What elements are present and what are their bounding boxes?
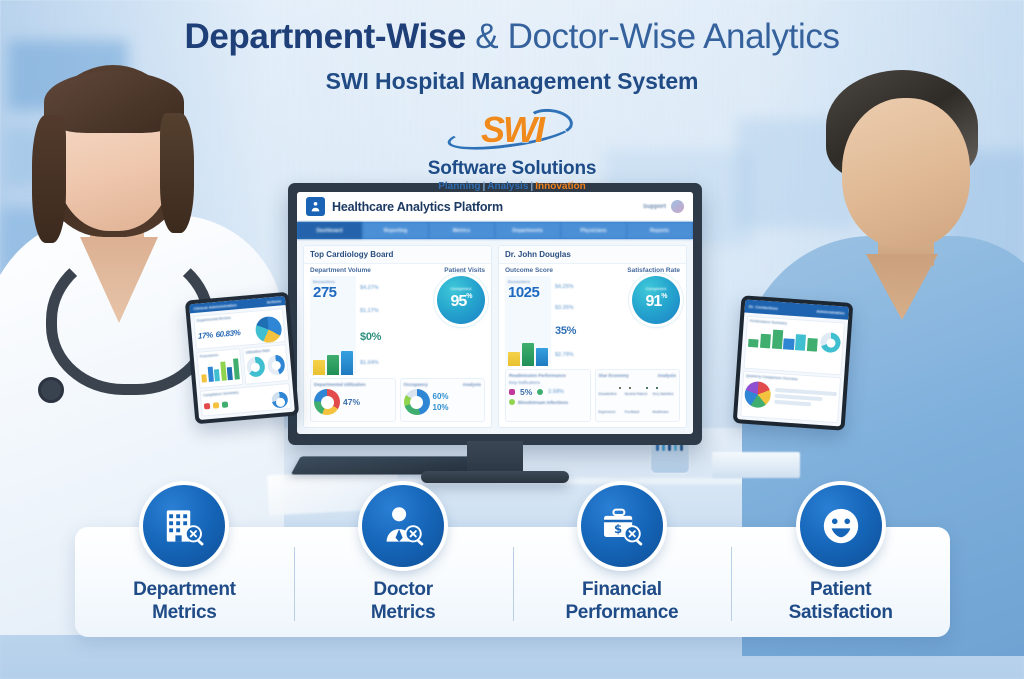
- gauge-number: 95: [450, 293, 466, 310]
- card-caption: Star Economy: [599, 373, 629, 378]
- department-metric-labels: Department Volume Patient Visits: [304, 264, 491, 275]
- satisfaction-smileys: Dissatisfied Experience Neutral Patient …: [599, 380, 677, 418]
- pie-chart: [744, 381, 772, 409]
- feature-label-doctor-metrics: Doctor Metrics: [371, 578, 435, 624]
- gauge-satisfaction-rate: Completed 91%: [632, 276, 680, 324]
- bar: [807, 338, 818, 352]
- bar: [508, 352, 520, 366]
- tagline-planning: Planning: [438, 181, 480, 192]
- feature-label-patient-satisfaction: Patient Satisfaction: [789, 578, 893, 624]
- legend-dot: [213, 402, 220, 409]
- page-title: Department-Wise & Doctor-Wise Analytics: [0, 18, 1024, 57]
- monitor-stand-neck: [467, 441, 523, 475]
- donut-chart: [820, 332, 841, 353]
- bar: [220, 361, 227, 381]
- avatar[interactable]: [671, 200, 684, 213]
- tablet-left-screen: Clinical Administration Actions Departme…: [189, 296, 295, 420]
- tablet-left-card-summary: Departmental Review 17% 60.83%: [193, 308, 286, 350]
- tablet-badge: Administration: [816, 309, 845, 316]
- kpi-outcome-score: Encounters 1025: [505, 276, 551, 366]
- doctor-metrics-row: Encounters 1025 $4.25% $3.35% 35%: [499, 275, 686, 369]
- kpi-caption: Encounters: [508, 279, 548, 284]
- card-caption: Occupancy: [404, 382, 428, 387]
- metric-label-department-volume: Department Volume: [310, 267, 371, 274]
- desk-books: [712, 452, 800, 478]
- dashboard-header-right: Support: [643, 200, 684, 213]
- legend-dot: [509, 389, 515, 395]
- logo-tagline: Planning|Analysis|Innovation: [0, 181, 1024, 192]
- legend-dot: [204, 403, 211, 410]
- bar: [771, 329, 783, 349]
- doctor-metric-labels: Outcome Score Satisfaction Rate: [499, 264, 686, 275]
- doctor-panel: Dr. John Douglas Outcome Score Satisfact…: [498, 245, 687, 428]
- donut-chart: [271, 391, 288, 408]
- pct-small-2: $3.35%: [555, 305, 628, 311]
- dashboard-body: Top Cardiology Board Department Volume P…: [297, 239, 693, 434]
- label-line-1: Doctor: [373, 579, 432, 600]
- patient-badge-icon: [306, 197, 325, 216]
- card-badge: Analysis: [657, 373, 676, 378]
- metric-label-patient-visits: Patient Visits: [444, 267, 485, 274]
- monitor-screen: Healthcare Analytics Platform Support Da…: [297, 192, 693, 434]
- label-line-1: Department: [133, 579, 236, 600]
- bar: [783, 338, 794, 350]
- tagline-analysis: Analysis: [487, 181, 528, 192]
- pct-primary: $0%: [360, 331, 433, 343]
- svg-text:$: $: [614, 522, 622, 536]
- kpi-bar-chart: [313, 349, 353, 375]
- pie-chart: [255, 315, 283, 343]
- bar: [760, 334, 771, 349]
- logo-wordmark: SWI: [441, 110, 583, 150]
- bar: [795, 334, 806, 351]
- card-note: Bloodstream Infections: [518, 400, 568, 405]
- pct-small-3: $1.04%: [360, 360, 433, 366]
- smiley-label: Very Satisfied Healthcare: [652, 392, 673, 414]
- card-percent-2: 10%: [433, 403, 449, 412]
- briefcase-dollar-search-icon: $: [581, 485, 663, 567]
- legend-dot: [509, 399, 515, 405]
- bar: [327, 355, 339, 375]
- gauge-patient-visits: Completed 95%: [437, 276, 485, 324]
- department-metrics-row: Encounters 275 $4.27% $1.17% $0%: [304, 275, 491, 378]
- department-lower-cards: Departmental Utilization 47% Occupancy A…: [304, 378, 491, 427]
- bar: [341, 351, 353, 375]
- card-caption: Readmission Performance: [509, 373, 566, 378]
- tablet-right-body: Performance Summary Q: [737, 312, 848, 426]
- label-line-2: Performance: [565, 602, 678, 623]
- label-line-1: Financial: [582, 579, 662, 600]
- tablet-left-card-compliance: Compliance Summary: [200, 383, 292, 417]
- percent-2: 60.83%: [215, 328, 240, 339]
- tagline-separator: |: [530, 181, 533, 192]
- label-line-2: Satisfaction: [789, 602, 893, 623]
- legend-dot: [537, 389, 543, 395]
- feature-patient-satisfaction[interactable]: Patient Satisfaction: [731, 527, 950, 637]
- kpi-caption: Encounters: [313, 279, 353, 284]
- smiley-face-icon: [800, 485, 882, 567]
- doctor-panel-title: Dr. John Douglas: [499, 246, 686, 264]
- bar: [207, 367, 213, 383]
- hospital-building-search-icon: [143, 485, 225, 567]
- card-percent-2: 2.58%: [548, 389, 564, 395]
- pct-small-2: $1.17%: [360, 308, 433, 314]
- card-departmental-utilization: Departmental Utilization 47%: [310, 378, 396, 422]
- card-caption: Utilization Rate: [245, 348, 283, 355]
- tablet-right-screen: Dr. Contactless Administration Performan…: [737, 300, 849, 427]
- dashboard-user-label: Support: [643, 204, 666, 210]
- gauge-value: 91%: [645, 293, 666, 311]
- kpi-value: 275: [313, 285, 353, 300]
- page-subtitle: SWI Hospital Management System: [0, 68, 1024, 95]
- department-panel: Top Cardiology Board Department Volume P…: [303, 245, 492, 428]
- stethoscope-bell: [38, 377, 64, 403]
- bar: [313, 360, 325, 375]
- kpi-department-volume: Encounters 275: [310, 276, 356, 375]
- smiley-label: Dissatisfied Experience: [599, 392, 617, 414]
- tablet-title: Dr. Contactless: [749, 304, 778, 311]
- bar-chart: [200, 358, 240, 383]
- doctor-percent-column: $4.25% $3.35% 35% $2.79%: [555, 276, 628, 366]
- tab-reporting[interactable]: Reporting: [363, 222, 429, 239]
- bar: [536, 348, 548, 366]
- feature-department-metrics[interactable]: Department Metrics: [75, 527, 294, 637]
- card-star-economy: Star Economy Analysis Dissatisfied Exper…: [595, 369, 681, 422]
- doctor-lower-cards: Readmission Performance Key Indicators 5…: [499, 369, 686, 427]
- pct-primary: 35%: [555, 325, 628, 337]
- tagline-separator: |: [482, 181, 485, 192]
- tab-departments[interactable]: Departments: [495, 222, 561, 239]
- logo-company-name: Software Solutions: [0, 158, 1024, 180]
- donut-chart: [314, 389, 340, 415]
- gauge-unit: %: [466, 293, 471, 300]
- feature-financial-performance[interactable]: $ Financial Performance: [513, 527, 732, 637]
- bar: [233, 359, 240, 380]
- gauge-number: 91: [645, 293, 661, 310]
- pct-small-1: $4.27%: [360, 285, 433, 291]
- poster-canvas: Department-Wise & Doctor-Wise Analytics …: [0, 0, 1024, 679]
- card-badge: Analysis: [462, 382, 481, 387]
- department-percent-column: $4.27% $1.17% $0% $1.04%: [360, 276, 433, 375]
- bar: [522, 343, 534, 366]
- label-line-2: Metrics: [371, 602, 435, 623]
- label-line-2: Metrics: [152, 602, 216, 623]
- card-percent-1: 60%: [433, 392, 449, 401]
- tab-reports[interactable]: Reports: [627, 222, 693, 239]
- bar: [214, 369, 220, 381]
- feature-label-financial-performance: Financial Performance: [565, 578, 678, 624]
- title-part-1: Department-Wise: [184, 17, 466, 56]
- poster-heading: Department-Wise & Doctor-Wise Analytics …: [0, 18, 1024, 95]
- legend-dot: [222, 402, 229, 409]
- department-panel-title: Top Cardiology Board: [304, 246, 491, 264]
- tablet-left-card-utilization: Utilization Rate: [242, 344, 289, 385]
- card-caption: Departmental Utilization: [314, 382, 366, 387]
- swi-logo: SWI Software Solutions Planning|Analysis…: [0, 112, 1024, 192]
- tab-metrics[interactable]: Metrics: [429, 222, 495, 239]
- tagline-innovation: Innovation: [535, 181, 586, 192]
- pct-small-3: $2.79%: [555, 352, 628, 358]
- tab-physicians[interactable]: Physicians: [561, 222, 627, 239]
- tablet-right-card-comparison: Quarterly Comparison Overview: [740, 371, 841, 423]
- desktop-monitor: Healthcare Analytics Platform Support Da…: [288, 183, 702, 445]
- bar: [748, 339, 759, 348]
- percent-1: 17%: [198, 330, 214, 340]
- tablet-left-body: Departmental Review 17% 60.83% Procedure…: [190, 305, 295, 420]
- dashboard-header: Healthcare Analytics Platform Support: [297, 192, 693, 222]
- bar: [201, 374, 207, 383]
- dashboard-nav: Dashboard Reporting Metrics Departments …: [297, 222, 693, 239]
- feature-bar: Department Metrics Doctor Metrics: [75, 527, 950, 637]
- donut-chart: [404, 389, 430, 415]
- gauge-caption: Completed: [437, 286, 485, 291]
- gauge-unit: %: [661, 293, 666, 300]
- card-percent: 47%: [343, 397, 360, 407]
- smiley-label: Neutral Patient Feedback: [625, 392, 648, 414]
- gauge-value: 95%: [450, 293, 471, 311]
- donut-chart: [266, 355, 285, 376]
- pct-small-1: $4.25%: [555, 284, 628, 290]
- tablet-left-card-procedures: Procedures: [196, 348, 243, 389]
- card-subcaption: Key Indicators: [509, 380, 540, 385]
- swi-logo-mark: SWI: [441, 112, 583, 152]
- tablet-right: Dr. Contactless Administration Performan…: [733, 295, 854, 431]
- bar: [227, 367, 233, 381]
- tab-dashboard[interactable]: Dashboard: [297, 222, 363, 239]
- label-line-1: Patient: [810, 579, 871, 600]
- feature-doctor-metrics[interactable]: Doctor Metrics: [294, 527, 513, 637]
- tablet-badge: Actions: [266, 298, 281, 304]
- card-percent-1: 5%: [520, 387, 532, 397]
- donut-chart: [246, 356, 265, 377]
- card-occupancy: Occupancy Analysis 60% 10%: [400, 378, 486, 422]
- tablet-right-card-performance: Performance Summary: [743, 316, 844, 376]
- bar-chart: [748, 325, 818, 352]
- metric-label-outcome-score: Outcome Score: [505, 267, 553, 274]
- feature-label-department-metrics: Department Metrics: [133, 578, 236, 624]
- kpi-bar-chart: [508, 340, 548, 366]
- kpi-value: 1025: [508, 285, 548, 300]
- monitor-stand-base: [421, 471, 569, 483]
- tablet-left: Clinical Administration Actions Departme…: [185, 292, 299, 425]
- gauge-caption: Completed: [632, 286, 680, 291]
- doctor-search-icon: [362, 485, 444, 567]
- dashboard-app-title: Healthcare Analytics Platform: [332, 200, 503, 214]
- title-part-2: & Doctor-Wise Analytics: [466, 17, 840, 56]
- card-readmission-performance: Readmission Performance Key Indicators 5…: [505, 369, 591, 422]
- metric-label-satisfaction-rate: Satisfaction Rate: [627, 267, 680, 274]
